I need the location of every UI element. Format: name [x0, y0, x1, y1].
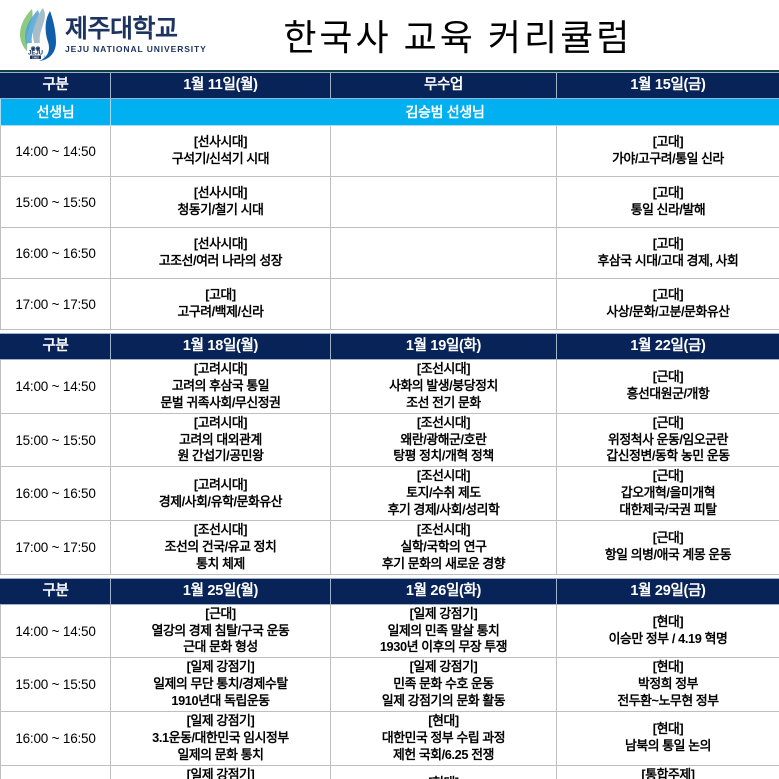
lesson-era-label: [고대] [560, 134, 776, 151]
lesson-era-label: [현대] [560, 614, 776, 631]
lesson-era-label: [일제 강점기] [334, 606, 553, 623]
document-header: ◉◉ JEJU 1952 제주대학교 JEJU NATIONAL UNIVERS… [0, 0, 779, 72]
lesson-cell: [고대]가야/고구려/통일 신라 [557, 126, 779, 177]
column-header-date-2: 무수업 [331, 73, 557, 99]
lesson-cell: [근대]갑오개혁/을미개혁대한제국/국권 피탈 [557, 467, 779, 521]
lesson-era-label: [현대] [334, 775, 553, 779]
lesson-era-label: [조선시대] [334, 415, 553, 432]
lesson-topic-line: 민족 문화 수호 운동 [334, 676, 553, 693]
lesson-topic-line: 탕평 정치/개혁 정책 [334, 448, 553, 465]
lesson-era-label: [일제 강점기] [114, 713, 327, 730]
empty-lesson-cell [331, 126, 557, 177]
lesson-era-label: [고대] [560, 236, 776, 253]
table-row: 16:00 ~ 16:50[선사시대]고조선/여러 나라의 성장[고대]후삼국 … [1, 228, 779, 279]
teacher-row-label: 선생님 [1, 99, 111, 126]
lesson-cell: [일제 강점기]3.1운동/대한민국 임시정부일제의 문화 통치 [111, 712, 331, 766]
column-header-gubun: 구분 [1, 578, 111, 604]
empty-lesson-cell [331, 228, 557, 279]
column-header-date-2: 1월 19일(화) [331, 334, 557, 360]
table-row: 17:00 ~ 17:50[고대]고구려/백제/신라[고대]사상/문화/고분/문… [1, 279, 779, 330]
lesson-era-label: [근대] [114, 606, 327, 623]
lesson-topic-line: 전두환~노무현 정부 [560, 693, 776, 710]
column-header-date-3: 1월 22일(금) [557, 334, 779, 360]
lesson-topic-line: 남북의 통일 논의 [560, 738, 776, 755]
lesson-cell: [고대]고구려/백제/신라 [111, 279, 331, 330]
lesson-era-label: [조선시대] [114, 522, 327, 539]
lesson-topic-line: 1930년 이후의 무장 투쟁 [334, 639, 553, 656]
lesson-cell: [현대]이승만 정부 / 4.19 혁명 [557, 604, 779, 658]
lesson-cell: [선사시대]고조선/여러 나라의 성장 [111, 228, 331, 279]
lesson-cell: [조선시대]왜란/광해군/호란탕평 정치/개혁 정책 [331, 413, 557, 467]
jeju-flame-logo-icon: ◉◉ JEJU 1952 [14, 7, 58, 63]
lesson-era-label: [일제 강점기] [114, 659, 327, 676]
lesson-era-label: [근대] [560, 468, 776, 485]
teacher-name-cell: 김승범 선생님 [111, 99, 779, 126]
lesson-topic-line: 조선 전기 문화 [334, 395, 553, 412]
time-slot-cell: 14:00 ~ 14:50 [1, 360, 111, 414]
svg-text:1952: 1952 [32, 56, 39, 60]
lesson-cell: [현대]대한민국 정부 수립 과정제헌 국회/6.25 전쟁 [331, 712, 557, 766]
lesson-era-label: [현대] [560, 659, 776, 676]
time-slot-cell: 16:00 ~ 16:50 [1, 467, 111, 521]
lesson-topic-line: 청동기/철기 시대 [114, 202, 327, 219]
lesson-era-label: [고려시대] [114, 415, 327, 432]
time-slot-cell: 15:00 ~ 15:50 [1, 413, 111, 467]
lesson-cell: [일제 강점기]일제의 민족 말살 통치1930년 이후의 무장 투쟁 [331, 604, 557, 658]
time-slot-cell: 17:00 ~ 17:50 [1, 279, 111, 330]
lesson-topic-line: 고구려/백제/신라 [114, 304, 327, 321]
lesson-era-label: [현대] [334, 713, 553, 730]
curriculum-table: 구분1월 11일(월)무수업1월 15일(금)선생님김승범 선생님14:00 ~… [0, 72, 779, 779]
university-logo: ◉◉ JEJU 1952 제주대학교 JEJU NATIONAL UNIVERS… [0, 7, 207, 63]
lesson-cell: [현대]제헌 국회/6.25 전쟁 [331, 765, 557, 779]
lesson-cell: [고대]사상/문화/고분/문화유산 [557, 279, 779, 330]
empty-lesson-cell [331, 279, 557, 330]
lesson-cell: [선사시대]구석기/신석기 시대 [111, 126, 331, 177]
table-row: 15:00 ~ 15:50[일제 강점기]일제의 무단 통치/경제수탈1910년… [1, 658, 779, 712]
lesson-cell: [고려시대]고려의 후삼국 통일문벌 귀족사회/무신정권 [111, 360, 331, 414]
lesson-era-label: [근대] [560, 530, 776, 547]
lesson-topic-line: 갑신정변/동학 농민 운동 [560, 448, 776, 465]
lesson-cell: [조선시대]실학/국학의 연구후기 문화의 새로운 경향 [331, 521, 557, 575]
lesson-era-label: [일제 강점기] [334, 659, 553, 676]
lesson-cell: [고대]후삼국 시대/고대 경제, 사회 [557, 228, 779, 279]
column-header-date-2: 1월 26일(화) [331, 578, 557, 604]
lesson-topic-line: 1910년대 독립운동 [114, 693, 327, 710]
lesson-topic-line: 통일 신라/발해 [560, 202, 776, 219]
lesson-topic-line: 후삼국 시대/고대 경제, 사회 [560, 253, 776, 270]
lesson-cell: [근대]위정척사 운동/임오군란갑신정변/동학 농민 운동 [557, 413, 779, 467]
logo-korean-name: 제주대학교 [65, 17, 207, 42]
lesson-cell: [조선시대]사화의 발생/붕당정치조선 전기 문화 [331, 360, 557, 414]
lesson-topic-line: 흥선대원군/개항 [560, 386, 776, 403]
column-header-date-3: 1월 29일(금) [557, 578, 779, 604]
lesson-topic-line: 일제의 민족 말살 통치 [334, 623, 553, 640]
table-row: 15:00 ~ 15:50[선사시대]청동기/철기 시대[고대]통일 신라/발해 [1, 177, 779, 228]
time-slot-cell: 16:00 ~ 16:50 [1, 228, 111, 279]
lesson-cell: [조선시대]조선의 건국/유교 정치통치 체제 [111, 521, 331, 575]
section-header-row: 구분1월 11일(월)무수업1월 15일(금) [1, 73, 779, 99]
lesson-topic-line: 3.1운동/대한민국 임시정부 [114, 730, 327, 747]
time-slot-cell: 15:00 ~ 15:50 [1, 177, 111, 228]
lesson-topic-line: 사화의 발생/붕당정치 [334, 378, 553, 395]
table-row: 14:00 ~ 14:50[선사시대]구석기/신석기 시대[고대]가야/고구려/… [1, 126, 779, 177]
time-slot-cell: 14:00 ~ 14:50 [1, 126, 111, 177]
lesson-topic-line: 제헌 국회/6.25 전쟁 [334, 747, 553, 764]
lesson-topic-line: 갑오개혁/을미개혁 [560, 485, 776, 502]
lesson-era-label: [선사시대] [114, 236, 327, 253]
table-row: 14:00 ~ 14:50[근대]열강의 경제 침탈/구국 운동근대 문화 형성… [1, 604, 779, 658]
lesson-cell: [고대]통일 신라/발해 [557, 177, 779, 228]
lesson-topic-line: 일제의 무단 통치/경제수탈 [114, 676, 327, 693]
time-slot-cell: 16:00 ~ 16:50 [1, 712, 111, 766]
lesson-era-label: [조선시대] [334, 361, 553, 378]
lesson-cell: [일제 강점기]일제의 무단 통치/경제수탈1910년대 독립운동 [111, 658, 331, 712]
lesson-topic-line: 구석기/신석기 시대 [114, 151, 327, 168]
lesson-era-label: [고대] [114, 287, 327, 304]
column-header-gubun: 구분 [1, 73, 111, 99]
section-header-row: 구분1월 18일(월)1월 19일(화)1월 22일(금) [1, 334, 779, 360]
lesson-cell: [일제 강점기]의열투쟁/1920년대 무장 투쟁대중 투쟁/민족 유일당 운동 [111, 765, 331, 779]
lesson-cell: [근대]열강의 경제 침탈/구국 운동근대 문화 형성 [111, 604, 331, 658]
time-slot-cell: 17:00 ~ 17:50 [1, 765, 111, 779]
table-row: 14:00 ~ 14:50[고려시대]고려의 후삼국 통일문벌 귀족사회/무신정… [1, 360, 779, 414]
lesson-cell: [근대]흥선대원군/개항 [557, 360, 779, 414]
lesson-topic-line: 고려의 대외관계 [114, 432, 327, 449]
time-slot-cell: 17:00 ~ 17:50 [1, 521, 111, 575]
column-header-date-1: 1월 18일(월) [111, 334, 331, 360]
lesson-era-label: [조선시대] [334, 468, 553, 485]
lesson-cell: [조선시대]토지/수취 제도후기 경제/사회/성리학 [331, 467, 557, 521]
lesson-era-label: [통합주제] [560, 767, 776, 779]
column-header-date-1: 1월 25일(월) [111, 578, 331, 604]
lesson-topic-line: 원 간섭기/공민왕 [114, 448, 327, 465]
time-slot-cell: 14:00 ~ 14:50 [1, 604, 111, 658]
table-row: 17:00 ~ 17:50[조선시대]조선의 건국/유교 정치통치 체제[조선시… [1, 521, 779, 575]
page-title: 한국사 교육 커리큘럼 [207, 9, 779, 61]
lesson-topic-line: 후기 경제/사회/성리학 [334, 502, 553, 519]
lesson-topic-line: 대한민국 정부 수립 과정 [334, 730, 553, 747]
lesson-era-label: [근대] [560, 415, 776, 432]
column-header-date-3: 1월 15일(금) [557, 73, 779, 99]
table-row: 15:00 ~ 15:50[고려시대]고려의 대외관계원 간섭기/공민왕[조선시… [1, 413, 779, 467]
table-row: 16:00 ~ 16:50[고려시대]경제/사회/유학/문화유산[조선시대]토지… [1, 467, 779, 521]
logo-english-name: JEJU NATIONAL UNIVERSITY [65, 45, 207, 54]
lesson-topic-line: 후기 문화의 새로운 경향 [334, 556, 553, 573]
lesson-era-label: [선사시대] [114, 134, 327, 151]
lesson-era-label: [일제 강점기] [114, 767, 327, 779]
empty-lesson-cell [331, 177, 557, 228]
time-slot-cell: 15:00 ~ 15:50 [1, 658, 111, 712]
lesson-era-label: [현대] [560, 721, 776, 738]
lesson-topic-line: 일제 강점기의 문화 활동 [334, 693, 553, 710]
lesson-topic-line: 이승만 정부 / 4.19 혁명 [560, 631, 776, 648]
lesson-era-label: [근대] [560, 369, 776, 386]
lesson-topic-line: 실학/국학의 연구 [334, 539, 553, 556]
table-row: 17:00 ~ 17:50[일제 강점기]의열투쟁/1920년대 무장 투쟁대중… [1, 765, 779, 779]
lesson-topic-line: 가야/고구려/통일 신라 [560, 151, 776, 168]
lesson-cell: [현대]남북의 통일 논의 [557, 712, 779, 766]
lesson-cell: [고려시대]경제/사회/유학/문화유산 [111, 467, 331, 521]
lesson-topic-line: 토지/수취 제도 [334, 485, 553, 502]
lesson-topic-line: 위정척사 운동/임오군란 [560, 432, 776, 449]
lesson-topic-line: 항일 의병/애국 계몽 운동 [560, 547, 776, 564]
lesson-topic-line: 고조선/여러 나라의 성장 [114, 253, 327, 270]
section-header-row: 구분1월 25일(월)1월 26일(화)1월 29일(금) [1, 578, 779, 604]
lesson-era-label: [조선시대] [334, 522, 553, 539]
lesson-era-label: [고대] [560, 287, 776, 304]
lesson-topic-line: 왜란/광해군/호란 [334, 432, 553, 449]
lesson-era-label: [고려시대] [114, 361, 327, 378]
lesson-cell: [고려시대]고려의 대외관계원 간섭기/공민왕 [111, 413, 331, 467]
lesson-topic-line: 경제/사회/유학/문화유산 [114, 494, 327, 511]
lesson-cell: [일제 강점기]민족 문화 수호 운동일제 강점기의 문화 활동 [331, 658, 557, 712]
lesson-topic-line: 사상/문화/고분/문화유산 [560, 304, 776, 321]
lesson-cell: [통합주제]지역사/유네스코세시 풍속과 민족놀이 [557, 765, 779, 779]
column-header-gubun: 구분 [1, 334, 111, 360]
teacher-row: 선생님김승범 선생님 [1, 99, 779, 126]
lesson-topic-line: 통치 체제 [114, 556, 327, 573]
lesson-topic-line: 대한제국/국권 피탈 [560, 502, 776, 519]
lesson-topic-line: 일제의 문화 통치 [114, 747, 327, 764]
column-header-date-1: 1월 11일(월) [111, 73, 331, 99]
lesson-cell: [근대]항일 의병/애국 계몽 운동 [557, 521, 779, 575]
table-row: 16:00 ~ 16:50[일제 강점기]3.1운동/대한민국 임시정부일제의 … [1, 712, 779, 766]
lesson-cell: [현대]박정희 정부전두환~노무현 정부 [557, 658, 779, 712]
lesson-topic-line: 문벌 귀족사회/무신정권 [114, 395, 327, 412]
lesson-era-label: [선사시대] [114, 185, 327, 202]
lesson-era-label: [고려시대] [114, 477, 327, 494]
lesson-topic-line: 고려의 후삼국 통일 [114, 378, 327, 395]
lesson-topic-line: 열강의 경제 침탈/구국 운동 [114, 623, 327, 640]
lesson-topic-line: 근대 문화 형성 [114, 639, 327, 656]
lesson-topic-line: 박정희 정부 [560, 676, 776, 693]
lesson-era-label: [고대] [560, 185, 776, 202]
lesson-cell: [선사시대]청동기/철기 시대 [111, 177, 331, 228]
lesson-topic-line: 조선의 건국/유교 정치 [114, 539, 327, 556]
